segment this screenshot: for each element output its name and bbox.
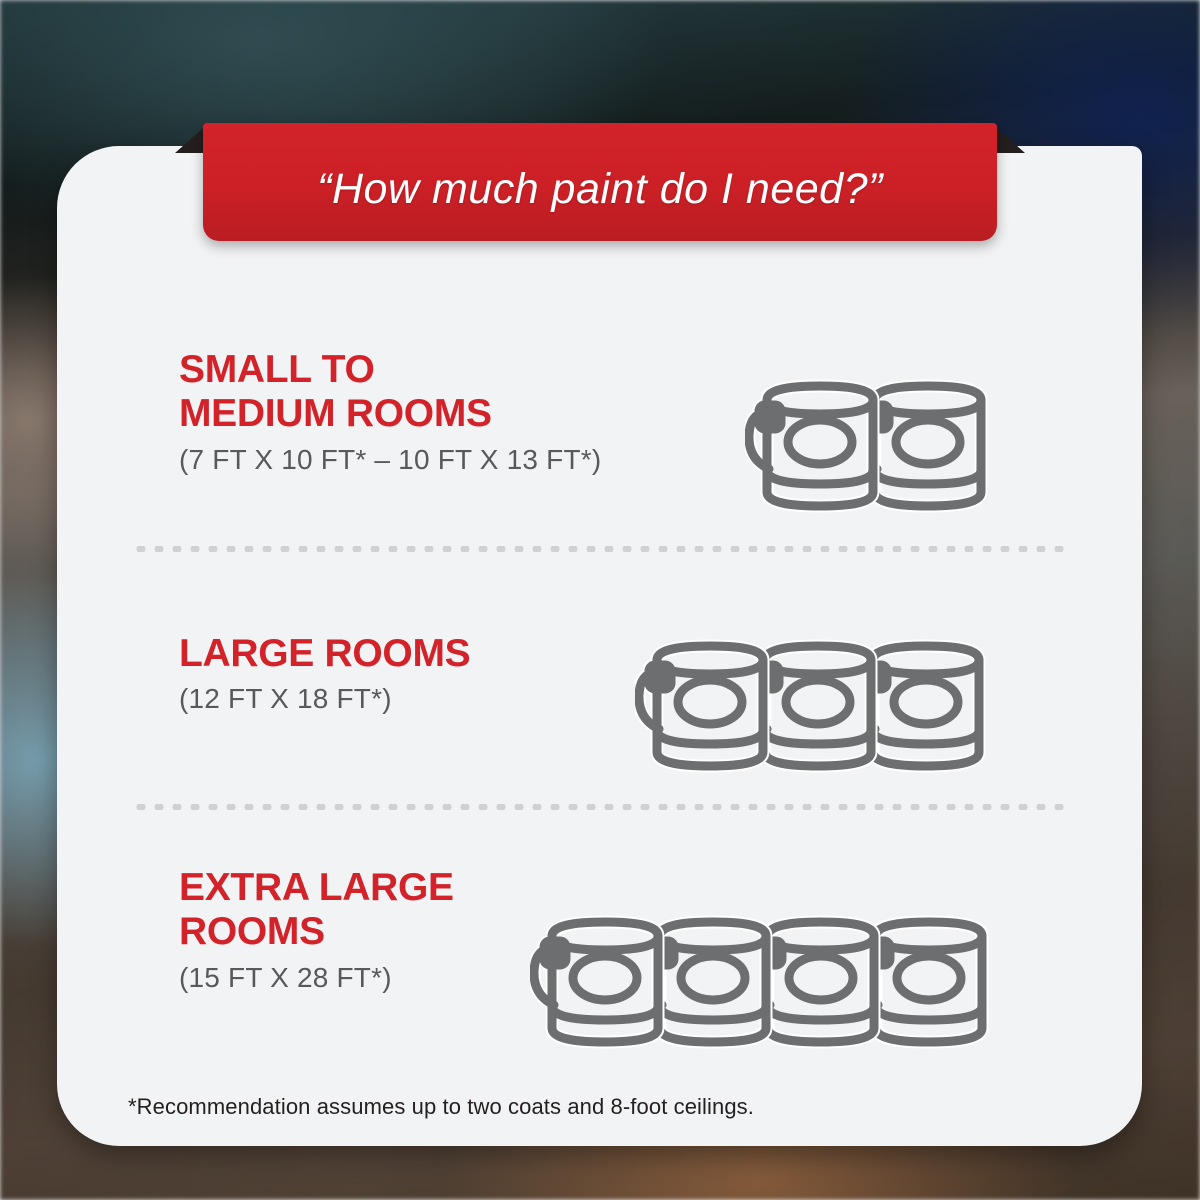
section-title: SMALL TO MEDIUM ROOMS	[179, 348, 601, 437]
section-text-block: EXTRA LARGE ROOMS (15 FT X 28 FT*)	[179, 866, 454, 994]
paint-can-group	[635, 620, 1001, 792]
section-divider	[132, 804, 1067, 810]
sections-container: SMALL TO MEDIUM ROOMS (7 FT X 10 FT* – 1…	[57, 146, 1142, 1146]
section-title: LARGE ROOMS	[179, 632, 470, 676]
paint-can-icon	[745, 360, 895, 532]
section-text-block: SMALL TO MEDIUM ROOMS (7 FT X 10 FT* – 1…	[179, 348, 601, 476]
footnote-text: *Recommendation assumes up to two coats …	[128, 1094, 754, 1120]
paint-can-icon	[530, 896, 680, 1068]
paint-can-icon	[635, 620, 785, 792]
section-divider	[132, 546, 1067, 552]
section-text-block: LARGE ROOMS (12 FT X 18 FT*)	[179, 632, 470, 715]
section-title: EXTRA LARGE ROOMS	[179, 866, 454, 955]
paint-can-group	[530, 896, 1004, 1068]
section-dimensions: (7 FT X 10 FT* – 10 FT X 13 FT*)	[179, 444, 601, 476]
section-dimensions: (15 FT X 28 FT*)	[179, 962, 454, 994]
paint-can-group	[745, 360, 1003, 532]
section-dimensions: (12 FT X 18 FT*)	[179, 683, 470, 715]
